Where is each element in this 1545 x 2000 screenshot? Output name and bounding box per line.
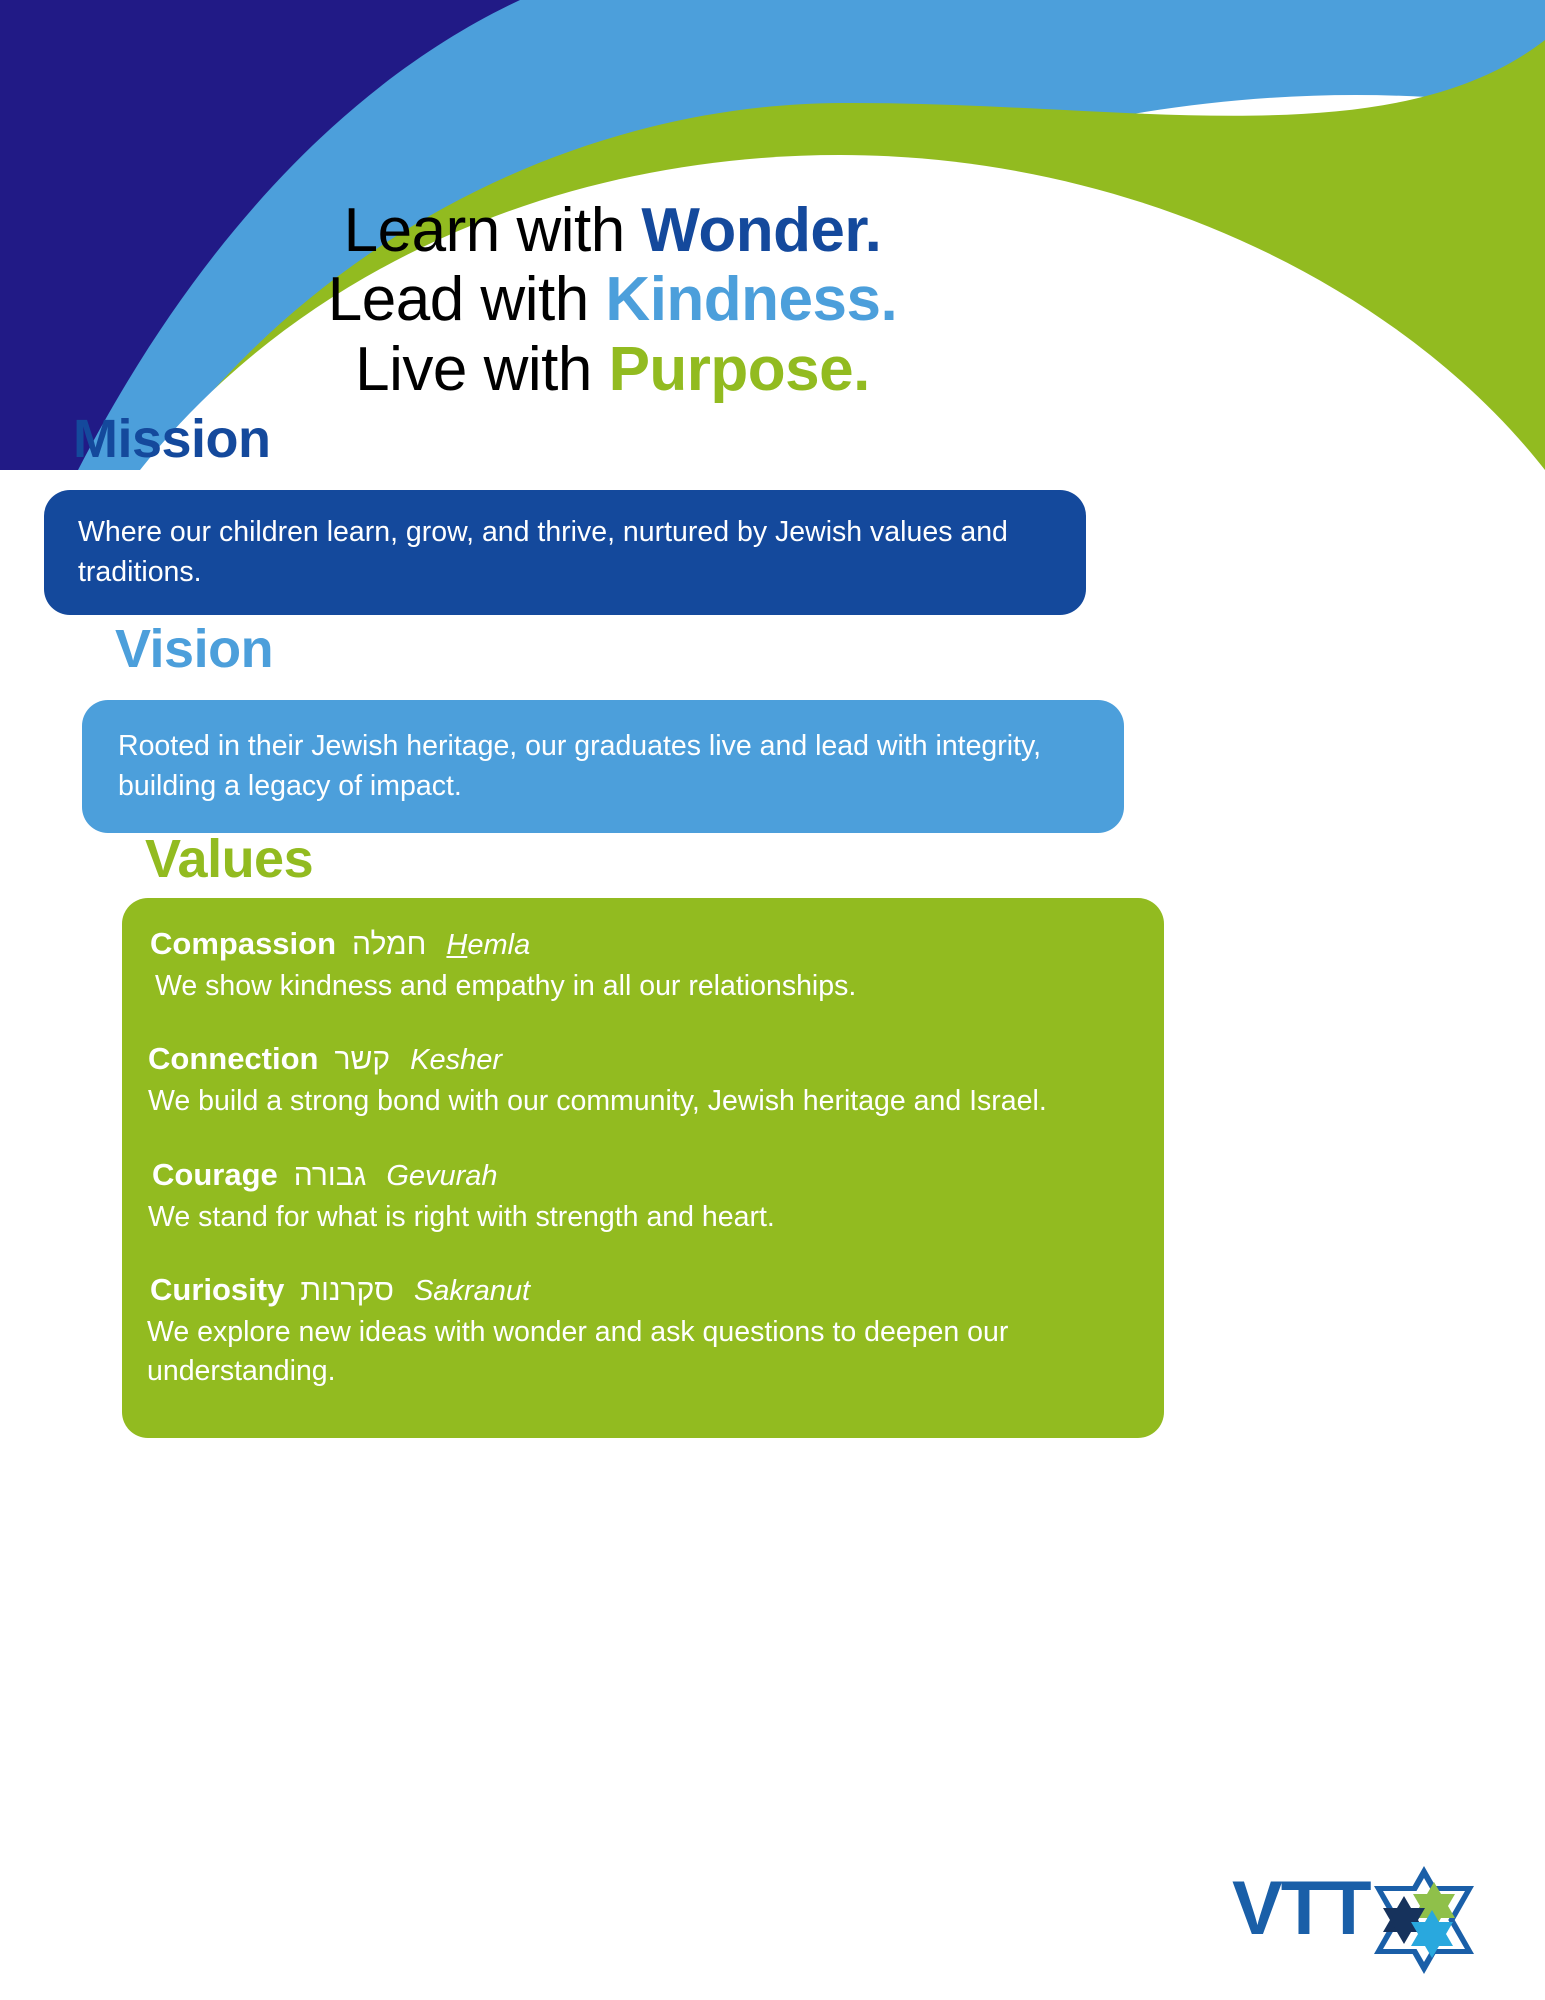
value-hebrew: קשר xyxy=(335,1043,391,1076)
value-item: CuriosityסקרנותSakranut We explore new i… xyxy=(122,1270,1164,1390)
value-header: CompassionחמלהHemla xyxy=(150,924,1152,965)
value-transliteration: Gevurah xyxy=(386,1160,497,1192)
value-transliteration: Sakranut xyxy=(414,1275,530,1307)
poster-page: Learn with Wonder. Lead with Kindness. L… xyxy=(0,0,1545,2000)
value-item: CourageגבורהGevurah We stand for what is… xyxy=(122,1155,1164,1236)
vision-heading: Vision xyxy=(115,618,273,680)
values-heading: Values xyxy=(145,828,313,890)
value-header: CuriosityסקרנותSakranut xyxy=(150,1270,1152,1311)
headline-line-1-plain: Learn with xyxy=(344,196,642,265)
value-item: CompassionחמלהHemla We show kindness and… xyxy=(122,924,1164,1005)
value-hebrew: חמלה xyxy=(352,928,426,961)
values-card: CompassionחמלהHemla We show kindness and… xyxy=(122,898,1164,1438)
vision-body: Rooted in their Jewish heritage, our gra… xyxy=(118,726,1088,807)
star-of-david-mark xyxy=(1374,1866,1474,1974)
value-transliteration-rest: Sakranut xyxy=(414,1275,530,1307)
value-header: CourageגבורהGevurah xyxy=(152,1155,1152,1196)
value-name: Curiosity xyxy=(150,1272,284,1307)
mission-heading: Mission xyxy=(73,408,271,470)
value-transliteration-underlined: H xyxy=(446,929,467,961)
vtt-wordmark: VTT xyxy=(1232,1866,1371,1951)
value-item: ConnectionקשרKesher We build a strong bo… xyxy=(122,1039,1164,1120)
value-transliteration-rest: Gevurah xyxy=(386,1160,497,1192)
headline-line-2: Lead with Kindness. xyxy=(0,265,1225,334)
headline-line-3: Live with Purpose. xyxy=(0,335,1225,404)
value-name: Courage xyxy=(152,1157,278,1192)
mission-body: Where our children learn, grow, and thri… xyxy=(78,512,1052,593)
headline-line-3-accent: Purpose. xyxy=(609,335,870,404)
value-transliteration: Hemla xyxy=(446,929,530,961)
value-name: Connection xyxy=(148,1041,319,1076)
vtt-logo: VTT xyxy=(1232,1860,1502,1980)
value-transliteration-rest: emla xyxy=(467,929,530,961)
headline-line-1-accent: Wonder. xyxy=(641,196,881,265)
value-description: We explore new ideas with wonder and ask… xyxy=(147,1313,1152,1391)
headline-line-1: Learn with Wonder. xyxy=(0,196,1225,265)
vision-card: Rooted in their Jewish heritage, our gra… xyxy=(82,700,1124,833)
value-transliteration-rest: Kesher xyxy=(410,1044,502,1076)
mission-card: Where our children learn, grow, and thri… xyxy=(44,490,1086,615)
value-hebrew: סקרנות xyxy=(300,1274,394,1307)
headline-line-2-accent: Kindness. xyxy=(605,265,897,334)
headline-line-2-plain: Lead with xyxy=(328,265,606,334)
value-description: We build a strong bond with our communit… xyxy=(148,1082,1152,1121)
value-header: ConnectionקשרKesher xyxy=(148,1039,1152,1080)
value-hebrew: גבורה xyxy=(294,1159,367,1192)
value-name: Compassion xyxy=(150,926,336,961)
value-transliteration: Kesher xyxy=(410,1044,502,1076)
value-description: We show kindness and empathy in all our … xyxy=(150,967,1152,1006)
page-headline: Learn with Wonder. Lead with Kindness. L… xyxy=(0,196,1225,404)
value-description: We stand for what is right with strength… xyxy=(148,1198,1152,1237)
headline-line-3-plain: Live with xyxy=(355,335,608,404)
